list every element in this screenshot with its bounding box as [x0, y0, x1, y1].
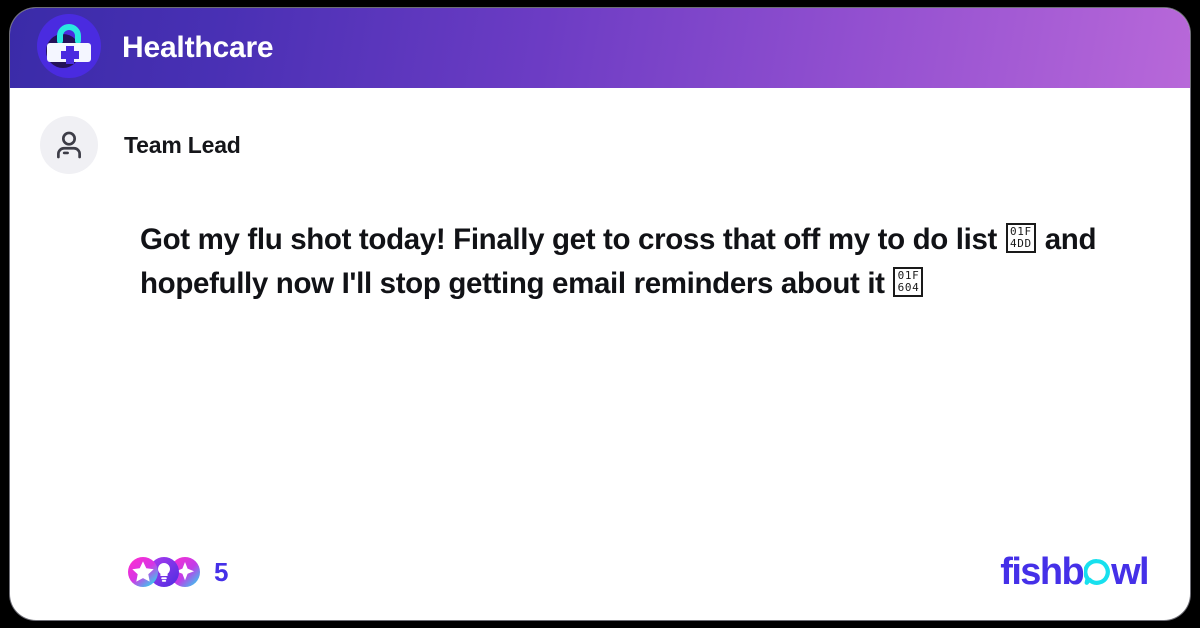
emoji-smile-codepoint-lo: 604	[895, 282, 921, 294]
post-card: Healthcare Team Lead Got my flu shot tod…	[10, 8, 1190, 620]
avatar	[40, 116, 98, 174]
screen-root: Healthcare Team Lead Got my flu shot tod…	[0, 0, 1200, 628]
reactions-group[interactable]: 5	[128, 557, 228, 588]
reaction-count: 5	[214, 557, 228, 588]
medical-bag-icon	[36, 13, 102, 79]
person-icon	[52, 128, 86, 162]
post-text-part-1: Got my flu shot today! Finally get to cr…	[140, 223, 1005, 256]
author-name: Team Lead	[124, 132, 241, 159]
card-header: Healthcare	[10, 8, 1190, 88]
emoji-memo-tofu: 01F4DD	[1006, 223, 1036, 253]
card-footer: 5 fishb wl	[10, 550, 1190, 594]
fishbowl-logo: fishb wl	[1000, 553, 1148, 591]
fishbowl-logo-text-after: wl	[1111, 553, 1148, 591]
card-body: Team Lead Got my flu shot today! Finally…	[10, 88, 1190, 620]
fishbowl-logo-text-before: fishb	[1000, 553, 1083, 591]
emoji-memo-codepoint-lo: 4DD	[1008, 238, 1034, 250]
reaction-bubble-stack[interactable]	[128, 557, 202, 587]
post-text: Got my flu shot today! Finally get to cr…	[140, 218, 1150, 306]
author-row: Team Lead	[10, 88, 1190, 174]
emoji-smile-tofu: 01F604	[893, 267, 923, 297]
speech-bubble-o-icon	[1084, 559, 1110, 585]
channel-title: Healthcare	[122, 31, 273, 65]
star-reaction-icon[interactable]	[128, 557, 158, 587]
